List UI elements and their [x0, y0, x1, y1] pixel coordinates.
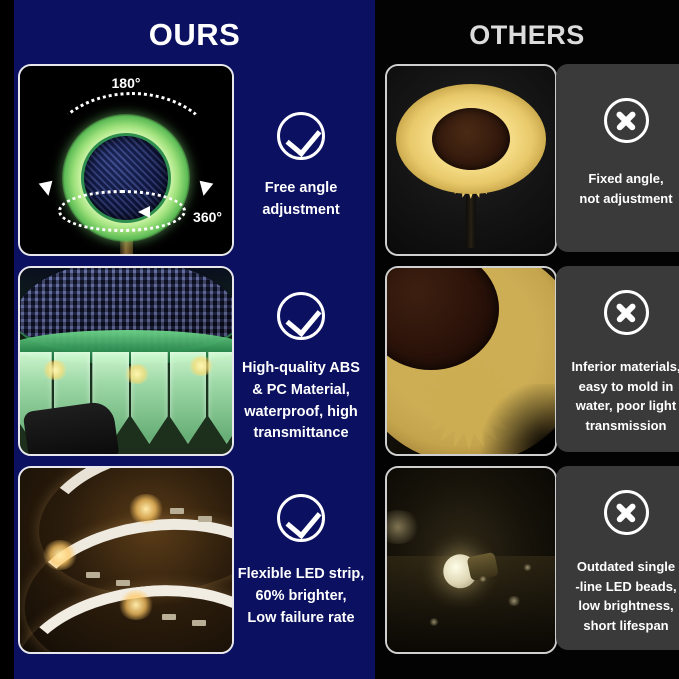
- sunflower-head: [396, 84, 546, 194]
- angle-label-360: 360°: [193, 209, 222, 225]
- ours-row-1-text-block: Free angle adjustment: [226, 112, 376, 222]
- yellow-sunflower-photo: [387, 66, 555, 254]
- led-glow: [42, 540, 78, 570]
- x-circle-icon: [604, 290, 649, 335]
- led-chip: [198, 516, 212, 522]
- sunflower-closeup-photo: [387, 268, 555, 454]
- led-chip: [162, 614, 176, 620]
- others-row-1-text-card: Fixed angle, not adjustment: [556, 64, 679, 252]
- wet-led-bulb-photo: [387, 468, 555, 652]
- check-circle-icon: [277, 292, 325, 340]
- acrylic-petal-closeup-photo: [20, 268, 232, 454]
- ours-row-2-text-block: High-quality ABS & PC Material, waterpro…: [226, 292, 376, 445]
- others-row-2-line-4: transmission: [556, 416, 679, 436]
- arrow-360-icon: [138, 206, 150, 218]
- check-circle-icon: [277, 112, 325, 160]
- others-row-2-line-2: easy to mold in: [556, 377, 679, 397]
- ours-row-1-image: 180° 360°: [18, 64, 234, 256]
- angle-label-180: 180°: [112, 75, 141, 91]
- others-row-2-line-1: Inferior materials,: [556, 357, 679, 377]
- others-row-1-line-1: Fixed angle,: [556, 169, 679, 189]
- x-circle-icon: [604, 490, 649, 535]
- ours-row-2-line-3: waterproof, high: [226, 402, 376, 424]
- rotation-diagram: 180° 360°: [20, 66, 232, 254]
- led-glow: [118, 590, 154, 620]
- ours-row-1-line-2: adjustment: [226, 200, 376, 222]
- ours-column-header: OURS: [14, 18, 375, 52]
- water-droplet: [523, 564, 532, 571]
- led-strip-coil-photo: [20, 468, 232, 652]
- others-column-header: OTHERS: [375, 18, 679, 52]
- ours-row-1-line-1: Free angle: [226, 178, 376, 200]
- shadow-vignette: [475, 384, 557, 456]
- ours-row-2-line-4: transmittance: [226, 423, 376, 445]
- others-row-3-text-card: Outdated single -line LED beads, low bri…: [556, 466, 679, 650]
- others-row-1-line-2: not adjustment: [556, 189, 679, 209]
- check-circle-icon: [277, 494, 325, 542]
- others-row-3-line-2: -line LED beads,: [556, 577, 679, 597]
- ours-row-2-image: [18, 266, 234, 456]
- led-glow: [42, 360, 68, 380]
- others-row-2-image: [385, 266, 557, 456]
- ours-row-3-line-3: Low failure rate: [226, 608, 376, 630]
- others-row-2-text-card: Inferior materials, easy to mold in wate…: [556, 266, 679, 452]
- others-row-2-line-3: water, poor light: [556, 396, 679, 416]
- ours-row-2-line-2: & PC Material,: [226, 380, 376, 402]
- led-glow: [124, 364, 150, 384]
- water-droplet: [429, 618, 439, 626]
- ours-row-3-line-2: 60% brighter,: [226, 586, 376, 608]
- others-row-3-line-3: low brightness,: [556, 596, 679, 616]
- led-chip: [170, 508, 184, 514]
- ours-row-2-line-1: High-quality ABS: [226, 358, 376, 380]
- comparison-infographic: OURS OTHERS 180° 360° Free angle adjustm…: [0, 0, 679, 679]
- ellipse-360-dotted: [58, 190, 186, 232]
- others-row-1-image: [385, 64, 557, 256]
- ours-row-3-line-1: Flexible LED strip,: [226, 564, 376, 586]
- led-chip: [116, 580, 130, 586]
- x-circle-icon: [604, 98, 649, 143]
- led-chip: [86, 572, 100, 578]
- sunflower-center: [432, 108, 510, 170]
- background-glow: [385, 510, 421, 544]
- ours-row-3-image: [18, 466, 234, 654]
- others-row-3-image: [385, 466, 557, 654]
- others-row-3-line-4: short lifespan: [556, 616, 679, 636]
- led-chip: [192, 620, 206, 626]
- ours-row-3-text-block: Flexible LED strip, 60% brighter, Low fa…: [226, 494, 376, 629]
- others-row-3-line-1: Outdated single: [556, 557, 679, 577]
- water-droplet: [507, 596, 521, 606]
- water-droplet: [479, 576, 487, 582]
- led-glow: [128, 494, 164, 524]
- led-glow: [188, 356, 214, 376]
